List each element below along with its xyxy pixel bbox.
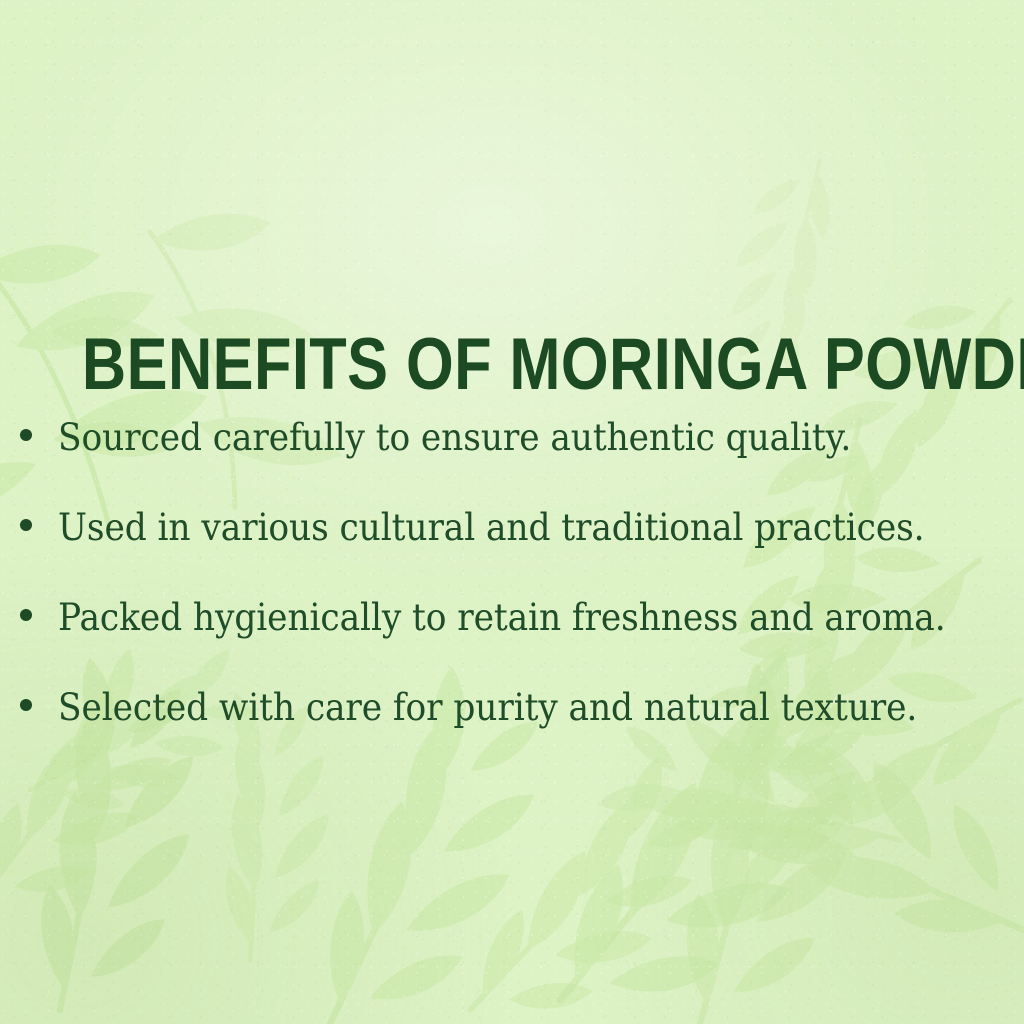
page-title: BENEFITS OF MORINGA POWDER: [82, 327, 942, 403]
bullet-icon: [20, 429, 32, 441]
bullet-icon: [20, 699, 32, 711]
benefits-list: Sourced carefully to ensure authentic qu…: [20, 418, 990, 778]
list-item-label: Used in various cultural and traditional…: [58, 508, 925, 548]
list-item: Used in various cultural and traditional…: [20, 508, 990, 598]
list-item-label: Packed hygienically to retain freshness …: [58, 598, 946, 638]
list-item: Selected with care for purity and natura…: [20, 688, 990, 778]
list-item-label: Selected with care for purity and natura…: [58, 688, 917, 728]
list-item: Sourced carefully to ensure authentic qu…: [20, 418, 990, 508]
bullet-icon: [20, 519, 32, 531]
bullet-icon: [20, 609, 32, 621]
poster-canvas: BENEFITS OF MORINGA POWDER Sourced caref…: [0, 0, 1024, 1024]
list-item-label: Sourced carefully to ensure authentic qu…: [58, 418, 851, 458]
list-item: Packed hygienically to retain freshness …: [20, 598, 990, 688]
poster-content: BENEFITS OF MORINGA POWDER Sourced caref…: [0, 0, 1024, 1024]
